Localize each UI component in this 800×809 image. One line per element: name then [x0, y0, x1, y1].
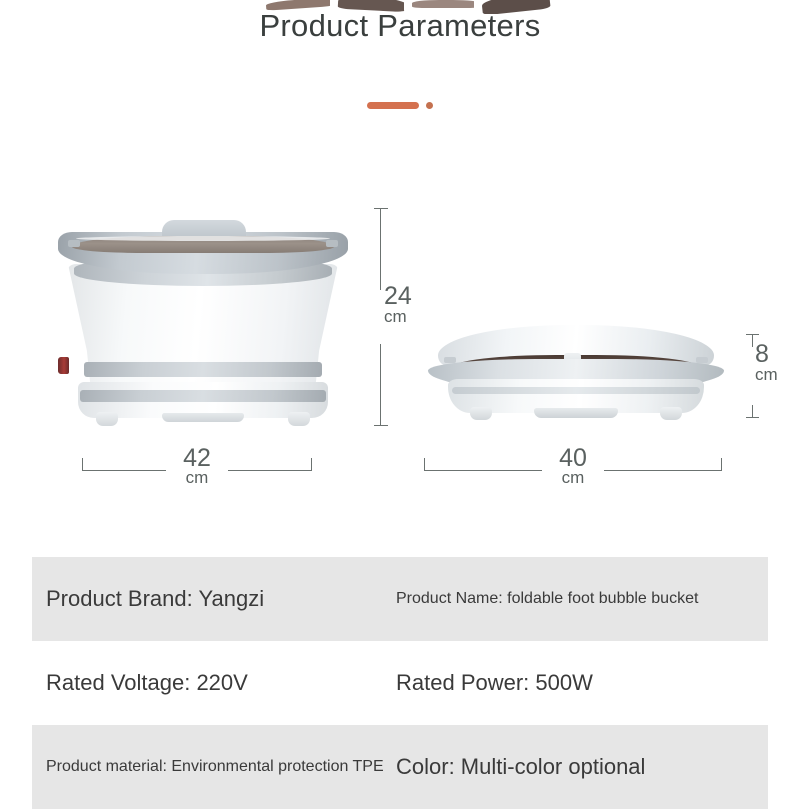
- dimension-unit: cm: [424, 470, 722, 486]
- table-row: Product material: Environmental protecti…: [32, 725, 768, 809]
- product-lid-clip: [696, 357, 708, 363]
- dimension-label: 24 cm: [384, 284, 412, 325]
- power-switch: [58, 357, 69, 374]
- product-foot: [660, 407, 682, 420]
- specification-table: Product Brand: Yangzi Product Name: fold…: [32, 557, 768, 809]
- expanded-product-illustration: [58, 212, 348, 422]
- product-fold-band: [84, 362, 322, 377]
- spec-cell-rated-power: Rated Power: 500W: [386, 670, 768, 696]
- product-center-foot: [534, 408, 618, 418]
- divider-dot-icon: [426, 102, 433, 109]
- dimension-value: 42: [82, 446, 312, 470]
- folded-product-illustration: [428, 325, 724, 425]
- dimension-cap: [746, 417, 759, 418]
- spec-cell-rated-voltage: Rated Voltage: 220V: [32, 670, 386, 696]
- page-header: Product Parameters: [0, 10, 800, 41]
- dimension-cap: [374, 425, 388, 426]
- dimension-unit: cm: [384, 309, 412, 326]
- product-lid-clip: [444, 357, 456, 363]
- product-center-foot: [162, 413, 244, 422]
- dimension-line: [380, 344, 381, 426]
- spec-cell-brand: Product Brand: Yangzi: [32, 586, 386, 612]
- dimension-unit: cm: [82, 470, 312, 486]
- divider-bar-icon: [367, 102, 419, 109]
- product-fold-band: [80, 390, 326, 402]
- dimension-value: 24: [384, 284, 412, 309]
- title-divider: [0, 95, 800, 115]
- spec-cell-product-name: Product Name: foldable foot bubble bucke…: [386, 589, 768, 609]
- product-foot: [470, 407, 492, 420]
- dimension-width-expanded: 42 cm: [82, 440, 312, 488]
- table-row: Product Brand: Yangzi Product Name: fold…: [32, 557, 768, 641]
- dimension-unit: cm: [755, 367, 778, 384]
- dimension-label: 42 cm: [82, 446, 312, 486]
- dimension-line: [380, 208, 381, 290]
- product-foot: [96, 412, 118, 426]
- product-fold-band: [452, 387, 700, 394]
- dimension-width-folded: 40 cm: [424, 440, 722, 488]
- dimension-value: 40: [424, 446, 722, 470]
- spec-cell-material: Product material: Environmental protecti…: [32, 757, 386, 777]
- product-foot: [288, 412, 310, 426]
- dimension-value: 8: [755, 342, 778, 367]
- product-lid-clip: [326, 240, 338, 247]
- table-row: Rated Voltage: 220V Rated Power: 500W: [32, 641, 768, 725]
- dimension-height-expanded: 24 cm: [374, 208, 434, 426]
- dimension-label: 40 cm: [424, 446, 722, 486]
- dimension-label: 8 cm: [755, 342, 778, 383]
- dimension-line: [752, 334, 753, 347]
- dimension-cap: [374, 208, 388, 209]
- dimension-height-folded: 8 cm: [746, 334, 794, 418]
- spec-cell-color: Color: Multi-color optional: [386, 754, 768, 780]
- page-title: Product Parameters: [0, 10, 800, 41]
- product-lid-highlight: [76, 236, 330, 241]
- product-lid-clip: [68, 240, 80, 247]
